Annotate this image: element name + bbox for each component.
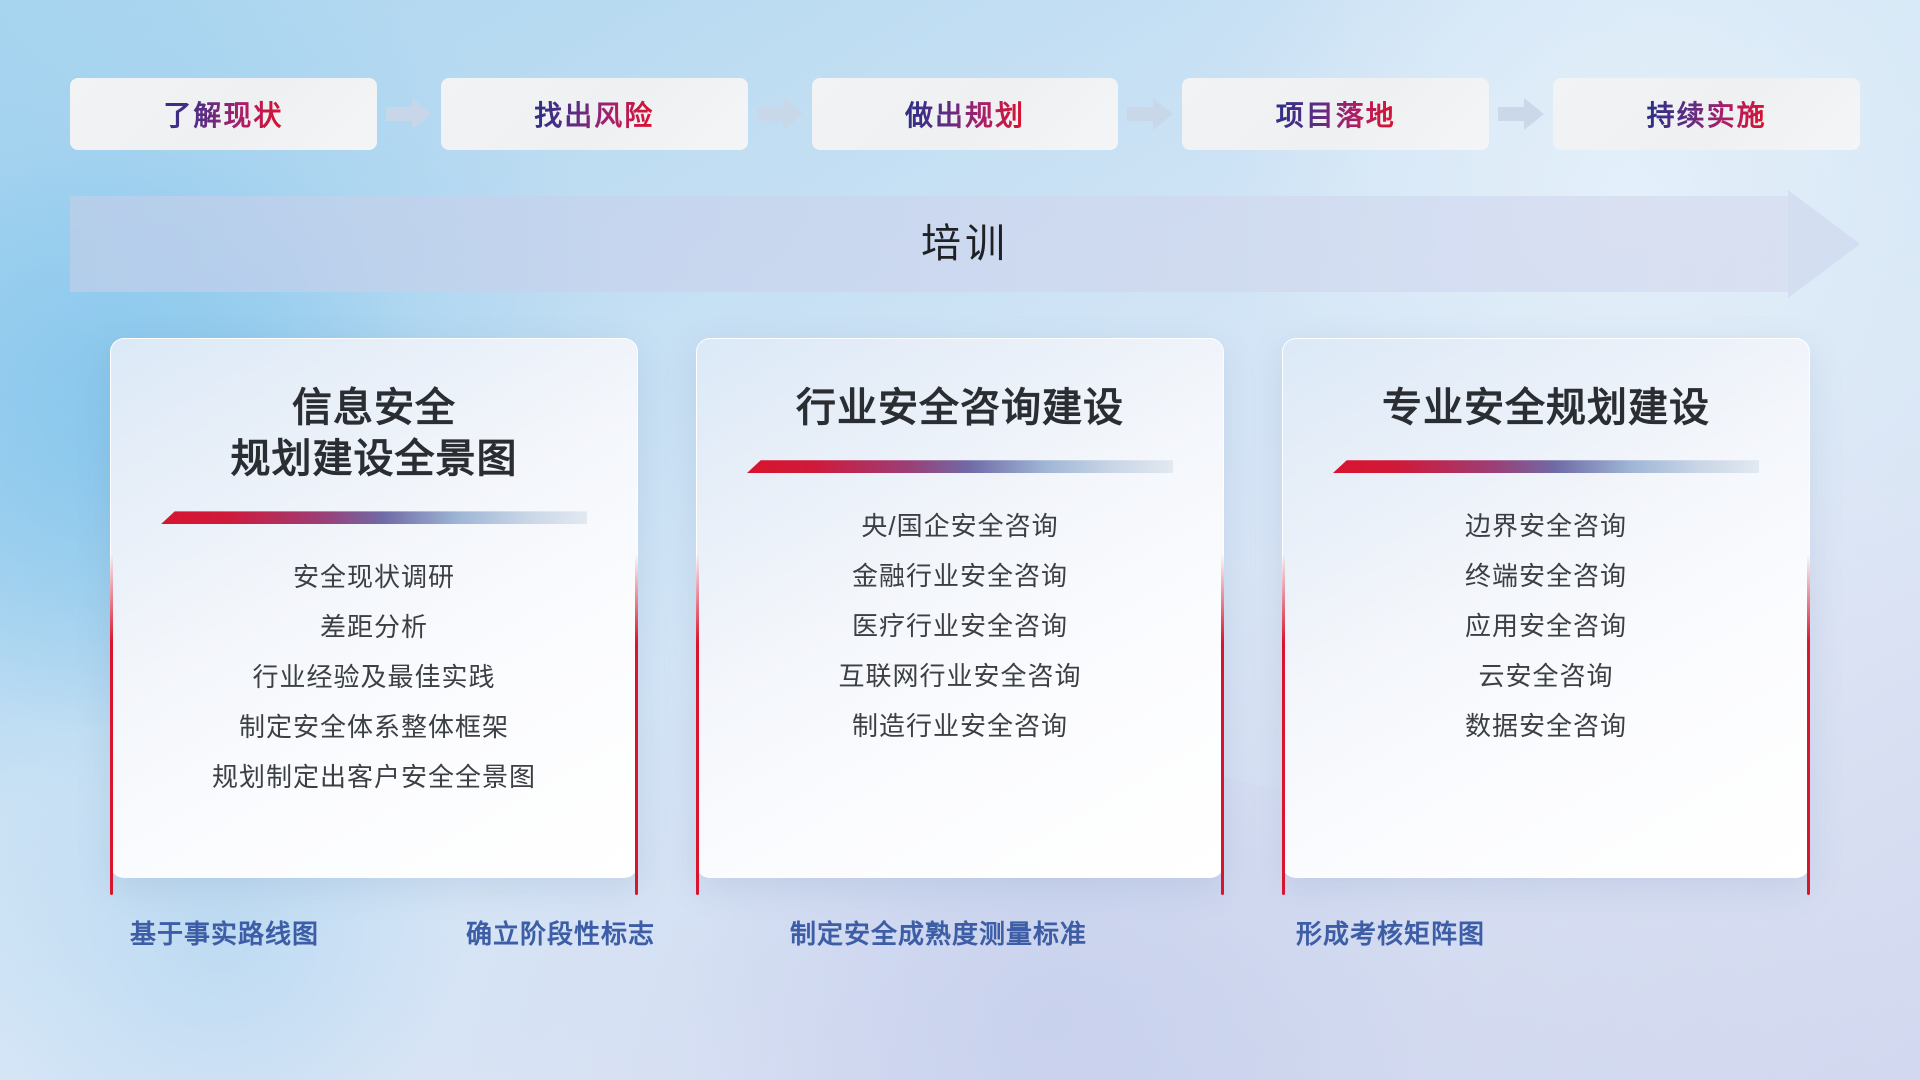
card-divider-bar bbox=[747, 460, 1174, 473]
arrow-right-icon bbox=[748, 91, 812, 137]
training-banner-title: 培训 bbox=[70, 196, 1860, 292]
card-item-list: 央/国企安全咨询金融行业安全咨询医疗行业安全咨询互联网行业安全咨询制造行业安全咨… bbox=[723, 501, 1197, 751]
card-item-list: 边界安全咨询终端安全咨询应用安全咨询云安全咨询数据安全咨询 bbox=[1309, 501, 1783, 751]
card-divider bbox=[161, 511, 588, 524]
process-step-5[interactable]: 持续实施 bbox=[1553, 78, 1860, 150]
service-card-3[interactable]: 专业安全规划建设边界安全咨询终端安全咨询应用安全咨询云安全咨询数据安全咨询 bbox=[1282, 338, 1810, 878]
footer-label-3: 制定安全成熟度测量标准 bbox=[790, 912, 1087, 956]
process-step-label: 持续实施 bbox=[1647, 94, 1767, 134]
process-step-label: 了解现状 bbox=[163, 94, 283, 134]
list-item[interactable]: 终端安全咨询 bbox=[1309, 551, 1783, 601]
card-title: 信息安全规划建设全景图 bbox=[231, 383, 518, 485]
process-step-3[interactable]: 做出规划 bbox=[812, 78, 1119, 150]
footer-label-4: 形成考核矩阵图 bbox=[1296, 912, 1485, 956]
footer-label-1: 基于事实路线图 bbox=[130, 912, 319, 956]
arrow-right-icon bbox=[377, 91, 441, 137]
footer-label-row: 基于事实路线图确立阶段性标志制定安全成熟度测量标准形成考核矩阵图 bbox=[0, 912, 1920, 956]
arrow-right-icon bbox=[1118, 91, 1182, 137]
list-item[interactable]: 医疗行业安全咨询 bbox=[723, 601, 1197, 651]
process-step-label: 找出风险 bbox=[534, 94, 654, 134]
list-item[interactable]: 边界安全咨询 bbox=[1309, 501, 1783, 551]
arrow-right-icon bbox=[1489, 91, 1553, 137]
card-divider bbox=[747, 460, 1174, 473]
list-item[interactable]: 应用安全咨询 bbox=[1309, 601, 1783, 651]
card-title: 专业安全规划建设 bbox=[1382, 383, 1710, 434]
list-item[interactable]: 行业经验及最佳实践 bbox=[137, 652, 611, 702]
card-divider-bar bbox=[1333, 460, 1760, 473]
list-item[interactable]: 央/国企安全咨询 bbox=[723, 501, 1197, 551]
service-card-1[interactable]: 信息安全规划建设全景图安全现状调研差距分析行业经验及最佳实践制定安全体系整体框架… bbox=[110, 338, 638, 878]
list-item[interactable]: 差距分析 bbox=[137, 602, 611, 652]
slide-canvas: 了解现状找出风险做出规划项目落地持续实施 培训 信息安全规划建设全景图安全现状调… bbox=[0, 0, 1920, 1080]
process-step-label: 做出规划 bbox=[905, 94, 1025, 134]
list-item[interactable]: 制造行业安全咨询 bbox=[723, 701, 1197, 751]
card-accent-rail-left bbox=[1282, 554, 1285, 895]
list-item[interactable]: 制定安全体系整体框架 bbox=[137, 702, 611, 752]
process-step-4[interactable]: 项目落地 bbox=[1182, 78, 1489, 150]
process-step-2[interactable]: 找出风险 bbox=[441, 78, 748, 150]
card-title-line: 专业安全规划建设 bbox=[1382, 383, 1710, 434]
card-row: 信息安全规划建设全景图安全现状调研差距分析行业经验及最佳实践制定安全体系整体框架… bbox=[110, 338, 1810, 878]
training-banner: 培训 bbox=[70, 196, 1860, 292]
card-title-line: 规划建设全景图 bbox=[231, 434, 518, 485]
card-accent-rail-right bbox=[1807, 554, 1810, 895]
card-accent-rail-right bbox=[1221, 554, 1224, 895]
card-title-line: 信息安全 bbox=[231, 383, 518, 434]
list-item[interactable]: 安全现状调研 bbox=[137, 552, 611, 602]
card-divider bbox=[1333, 460, 1760, 473]
list-item[interactable]: 规划制定出客户安全全景图 bbox=[137, 752, 611, 802]
card-accent-rail-right bbox=[635, 554, 638, 895]
card-item-list: 安全现状调研差距分析行业经验及最佳实践制定安全体系整体框架规划制定出客户安全全景… bbox=[137, 552, 611, 802]
card-accent-rail-left bbox=[696, 554, 699, 895]
card-divider-bar bbox=[161, 511, 588, 524]
list-item[interactable]: 金融行业安全咨询 bbox=[723, 551, 1197, 601]
list-item[interactable]: 互联网行业安全咨询 bbox=[723, 651, 1197, 701]
card-accent-rail-left bbox=[110, 554, 113, 895]
service-card-2[interactable]: 行业安全咨询建设央/国企安全咨询金融行业安全咨询医疗行业安全咨询互联网行业安全咨… bbox=[696, 338, 1224, 878]
list-item[interactable]: 数据安全咨询 bbox=[1309, 701, 1783, 751]
process-step-label: 项目落地 bbox=[1276, 94, 1396, 134]
process-step-row: 了解现状找出风险做出规划项目落地持续实施 bbox=[70, 78, 1860, 150]
footer-label-2: 确立阶段性标志 bbox=[466, 912, 655, 956]
card-title: 行业安全咨询建设 bbox=[796, 383, 1124, 434]
card-title-line: 行业安全咨询建设 bbox=[796, 383, 1124, 434]
process-step-1[interactable]: 了解现状 bbox=[70, 78, 377, 150]
list-item[interactable]: 云安全咨询 bbox=[1309, 651, 1783, 701]
